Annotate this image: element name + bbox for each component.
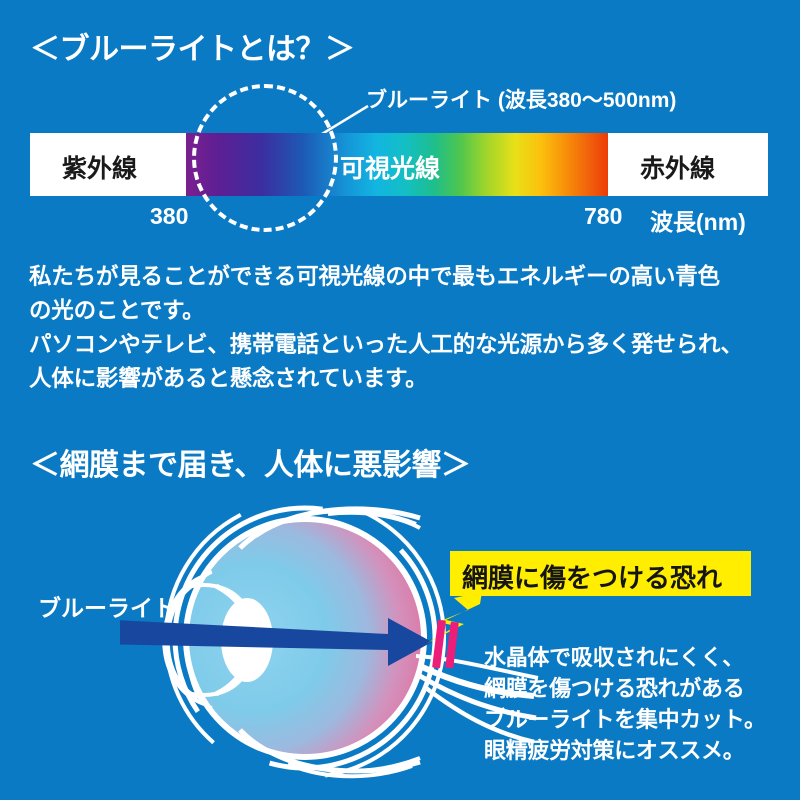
spectrum-axis-unit-label: 波長(nm) [650, 203, 746, 237]
spectrum-band-label-infrared: 赤外線 [640, 149, 715, 185]
spectrum-leader-line [318, 104, 370, 136]
spectrum-axis-value-right: 780 [584, 203, 622, 230]
infographic-page: ＜ブルーライトとは？＞ ブルーライト (波長380〜500nm) 紫外線 可視光… [0, 0, 800, 800]
section-2-description-text: 水晶体で吸収されにくく、 網膜を傷つける恐れがある ブルーライトを集中カット。 … [484, 642, 794, 766]
section-2-heading: ＜網膜まで届き、人体に悪影響＞ [30, 440, 470, 484]
retina-damage-marks-icon [432, 618, 468, 670]
spectrum-callout-label: ブルーライト (波長380〜500nm) [366, 84, 676, 114]
spectrum-axis-value-left: 380 [150, 203, 188, 230]
spectrum-band-label-ultraviolet: 紫外線 [62, 149, 137, 185]
section-1-body-text: 私たちが見ることができる可視光線の中で最もエネルギーの高い青色 の光のことです。… [29, 260, 774, 396]
section-1-heading: ＜ブルーライトとは？＞ [30, 24, 355, 68]
spectrum-band-label-visible: 可視光線 [340, 149, 440, 185]
bluelight-arrow-label: ブルーライト [38, 589, 176, 623]
retina-warning-callout-text: 網膜に傷をつける恐れ [462, 558, 722, 595]
